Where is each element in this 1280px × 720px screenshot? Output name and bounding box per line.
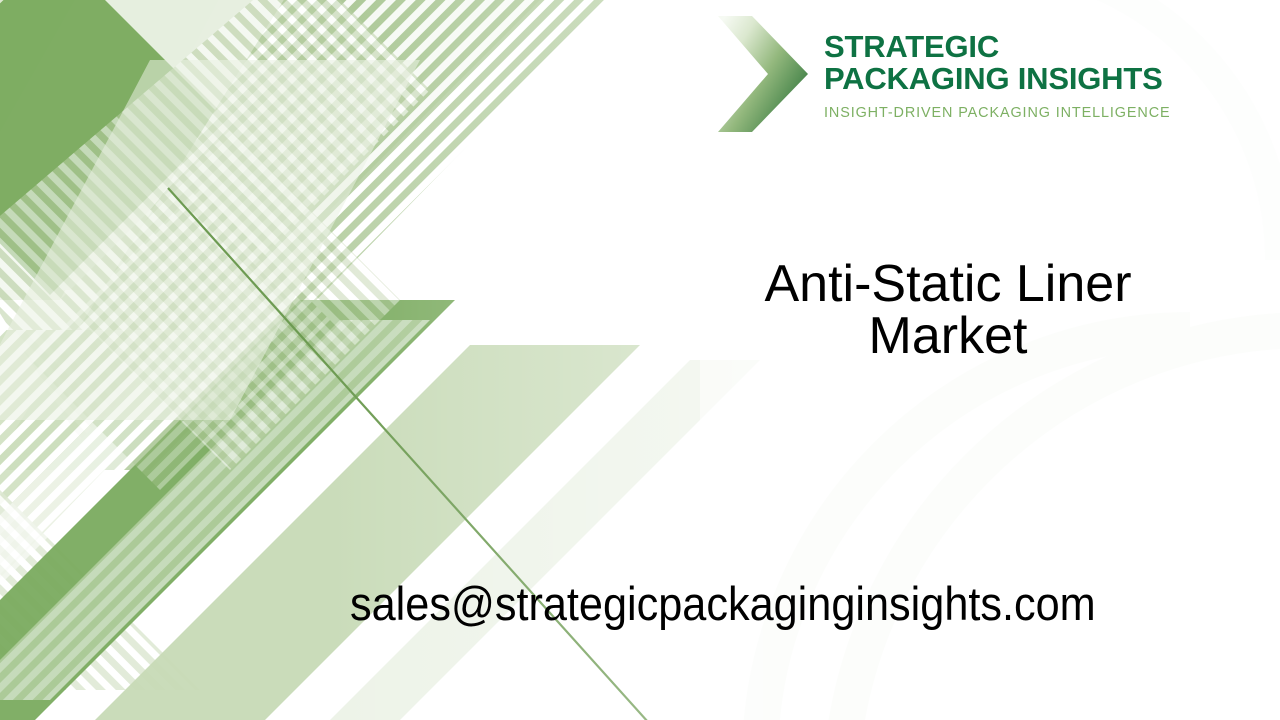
page-title: Anti-Static Liner Market	[628, 258, 1268, 362]
hairline-diagonal	[168, 188, 648, 720]
logo-line-2: PACKAGING INSIGHTS	[824, 63, 1171, 95]
logo-tagline: INSIGHT-DRIVEN PACKAGING INTELLIGENCE	[824, 105, 1171, 121]
company-logo: STRATEGIC PACKAGING INSIGHTS INSIGHT-DRI…	[712, 8, 1222, 140]
contact-email: sales@strategicpackaginginsights.com	[350, 580, 1096, 627]
chevron-arrow-icon	[712, 10, 812, 138]
logo-wordmark: STRATEGIC PACKAGING INSIGHTS INSIGHT-DRI…	[824, 27, 1171, 120]
presentation-slide: STRATEGIC PACKAGING INSIGHTS INSIGHT-DRI…	[0, 0, 1280, 720]
logo-line-1: STRATEGIC	[824, 31, 1171, 63]
